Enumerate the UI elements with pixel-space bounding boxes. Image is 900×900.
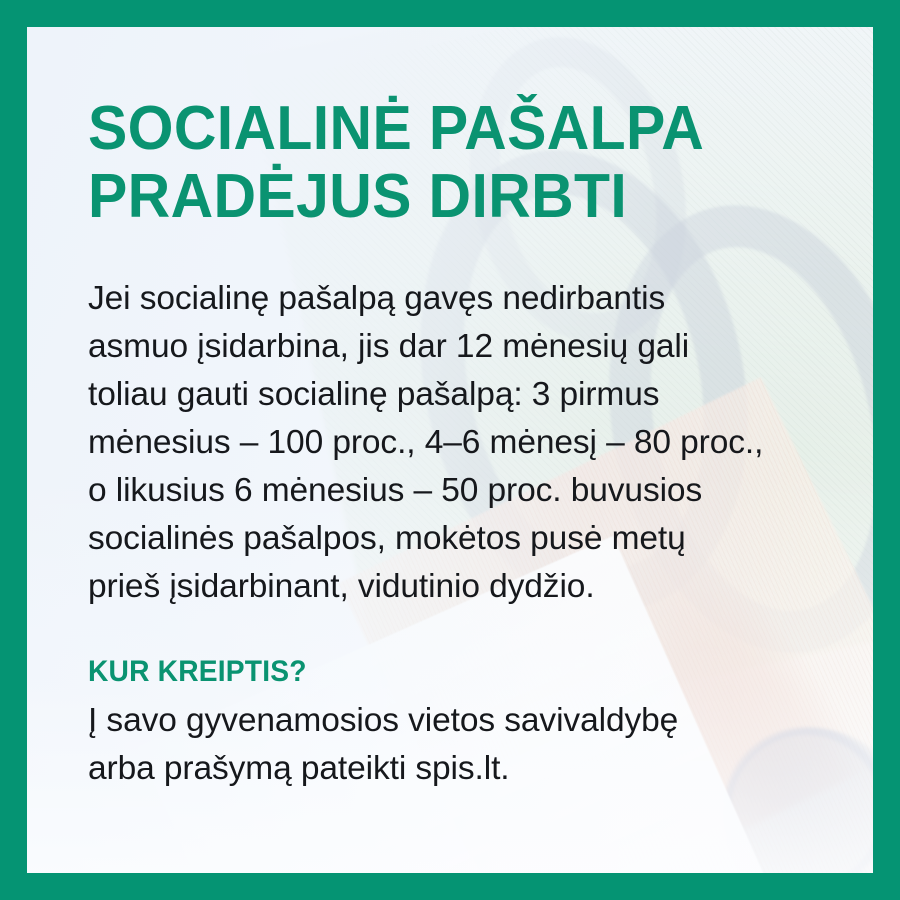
cta-paragraph: Į savo gyvenamosios vietos savivaldybę a…	[88, 691, 833, 793]
poster-content: SOCIALINĖ PAŠALPA PRADĖJUS DIRBTI Jei so…	[88, 95, 833, 793]
page-title: SOCIALINĖ PAŠALPA PRADĖJUS DIRBTI	[88, 95, 796, 231]
cta-heading: KUR KREIPTIS?	[88, 653, 788, 691]
cta-section: KUR KREIPTIS? Į savo gyvenamosios vietos…	[88, 611, 833, 793]
poster: SOCIALINĖ PAŠALPA PRADĖJUS DIRBTI Jei so…	[0, 0, 900, 900]
poster-canvas: SOCIALINĖ PAŠALPA PRADĖJUS DIRBTI Jei so…	[27, 27, 873, 873]
body-paragraph: Jei socialinę pašalpą gavęs nedirbantis …	[88, 231, 833, 611]
